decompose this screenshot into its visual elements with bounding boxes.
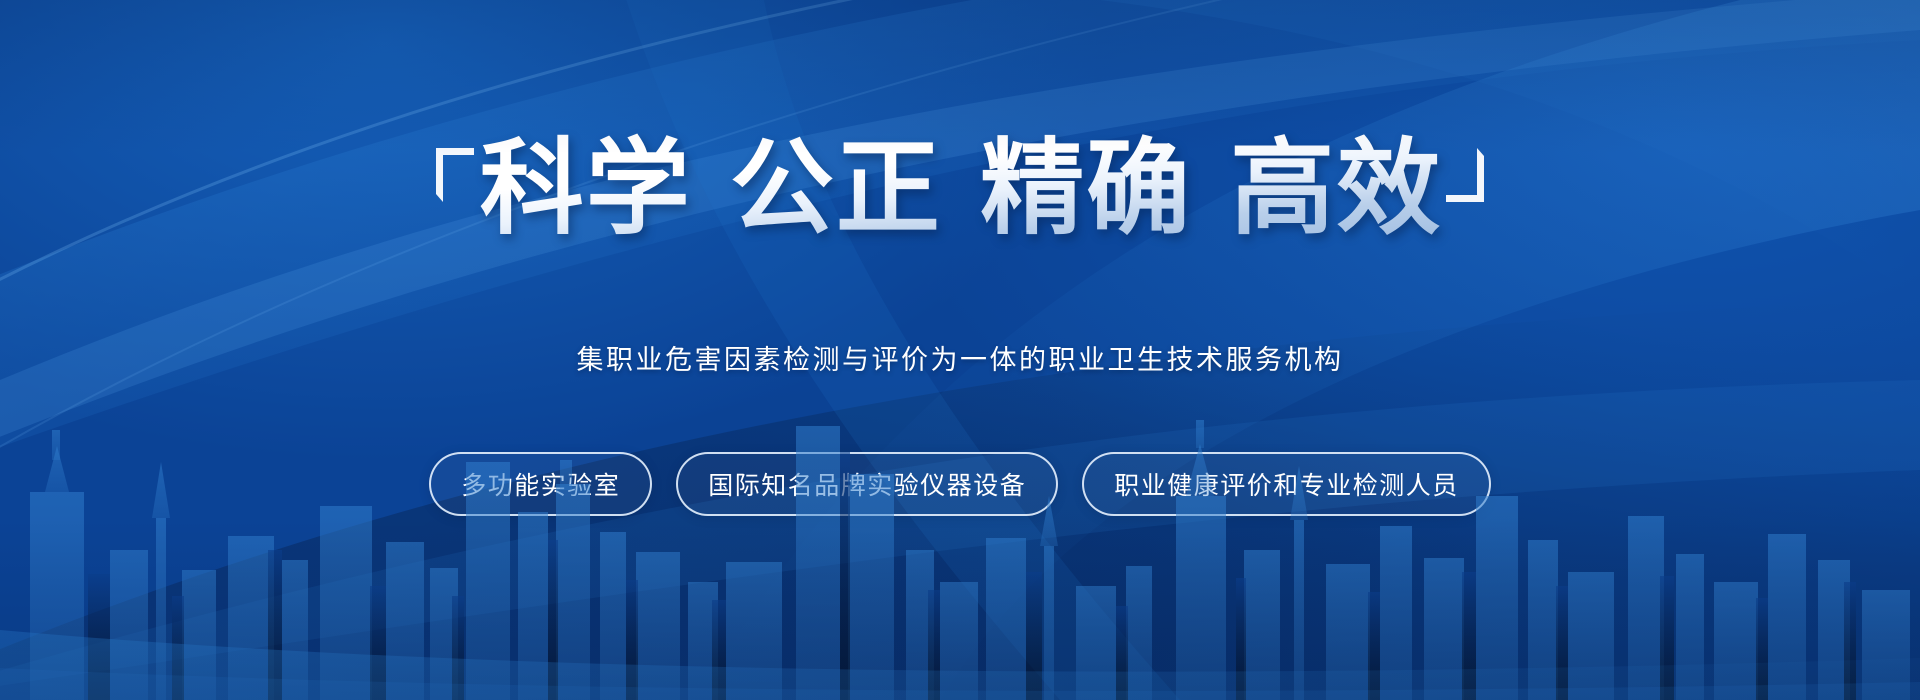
city-skyline-illustration	[0, 400, 1920, 700]
banner-root: 科学 公正 精确 高效 集职业危害因素检测与评价为一体的职业卫生技术服务机构 多…	[0, 0, 1920, 700]
quote-bracket-open-icon	[434, 144, 476, 274]
page-subtitle: 集职业危害因素检测与评价为一体的职业卫生技术服务机构	[0, 338, 1920, 377]
quote-bracket-close-icon	[1444, 144, 1486, 274]
headline-group: 科学 公正 精确 高效	[0, 128, 1920, 274]
page-title: 科学 公正 精确 高效	[480, 128, 1443, 249]
